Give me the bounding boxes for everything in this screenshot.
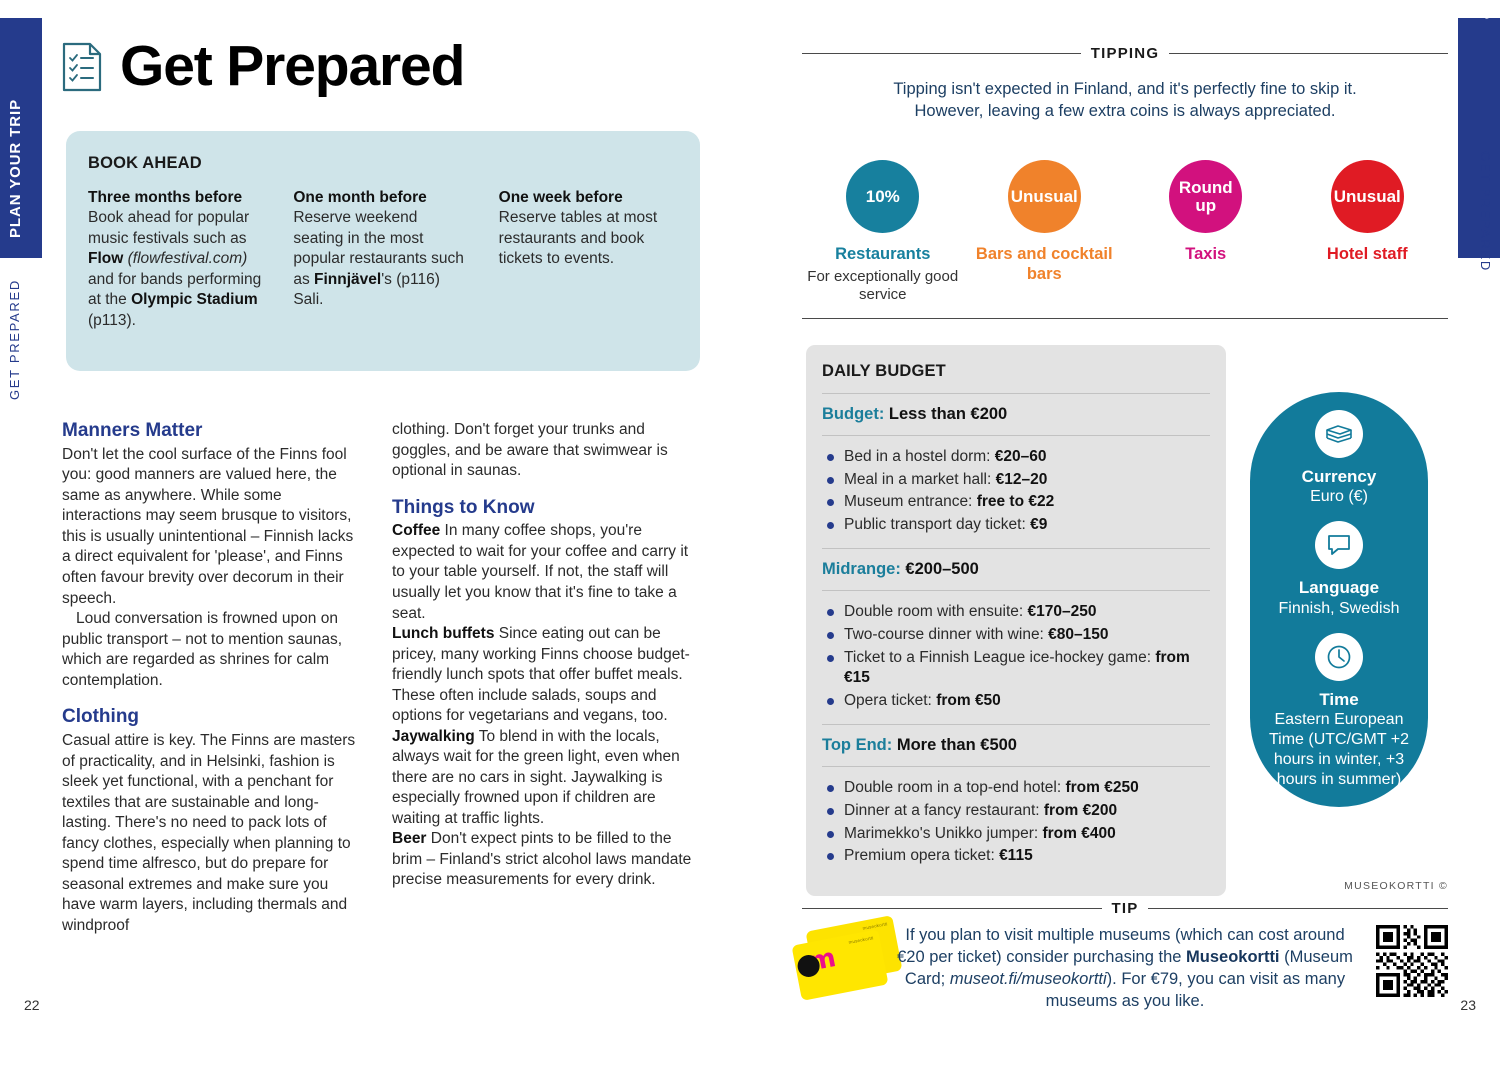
budget-item-text: Meal in a market hall: [844, 471, 996, 488]
checklist-document-icon [62, 42, 102, 92]
budget-tier-heading: Top End: More than €500 [822, 736, 1210, 766]
tipping-item: UnusualHotel staff [1287, 160, 1449, 304]
budget-item-text: Museum entrance: [844, 493, 977, 510]
budget-item-text: Dinner at a fancy restaurant: [844, 802, 1044, 819]
book-ahead-column-heading: Three months before [88, 188, 265, 208]
things-to-know-item: Jaywalking To blend in with the locals, … [392, 727, 692, 830]
divider [822, 724, 1210, 725]
fact-heading: Time [1250, 690, 1428, 710]
tipping-bubble: Unusual [1331, 160, 1404, 233]
budget-item-text: Bed in a hostel dorm: [844, 448, 995, 465]
tipping-sublabel: For exceptionally good service [802, 268, 964, 305]
budget-tier-label: Midrange: [822, 560, 901, 578]
tipping-label: Restaurants [802, 245, 964, 265]
fact-text: Eastern European Time (UTC/GMT +2 hours … [1250, 710, 1428, 790]
paragraph-continued: clothing. Don't forget your trunks and g… [392, 420, 692, 482]
budget-item-value: €170–250 [1028, 603, 1097, 620]
book-ahead-column: Three months before Book ahead for popul… [88, 188, 265, 331]
budget-item: Bed in a hostel dorm: €20–60 [822, 447, 1210, 468]
tip-heading: TIP [1112, 900, 1139, 917]
budget-item-value: €20–60 [995, 448, 1047, 465]
bold-run: Olympic Stadium [131, 291, 258, 308]
section-tab-label-left: PLAN YOUR TRIP [7, 99, 24, 238]
book-ahead-column-body: Reserve tables at most restaurants and b… [499, 208, 676, 269]
fact-heading: Currency [1250, 467, 1428, 487]
daily-budget-tiers: Budget: Less than €200Bed in a hostel do… [822, 393, 1210, 880]
tipping-item: UnusualBars and cocktail bars [964, 160, 1126, 304]
budget-item-value: from €400 [1042, 825, 1115, 842]
fact-language: Language Finnish, Swedish [1250, 521, 1428, 618]
tipping-bubble: Unusual [1008, 160, 1081, 233]
rule-line [1148, 908, 1448, 909]
bold-run: Flow [88, 250, 123, 267]
page-number-right: 23 [1460, 997, 1476, 1013]
italic-run: museot.fi/museokortti [950, 970, 1107, 988]
budget-item: Opera ticket: from €50 [822, 691, 1210, 712]
tipping-bubble: Round up [1169, 160, 1242, 233]
tip-text: If you plan to visit multiple museums (w… [890, 925, 1360, 1013]
budget-item-list: Double room in a top-end hotel: from €25… [822, 778, 1210, 866]
budget-item: Double room with ensuite: €170–250 [822, 602, 1210, 623]
budget-item-text: Marimekko's Unikko jumper: [844, 825, 1042, 842]
fact-text: Finnish, Swedish [1250, 599, 1428, 619]
budget-item-text: Opera ticket: [844, 692, 936, 709]
book-ahead-box: BOOK AHEAD Three months before Book ahea… [66, 131, 700, 371]
tipping-intro-line-1: Tipping isn't expected in Finland, and i… [802, 78, 1448, 100]
book-ahead-column-heading: One month before [293, 188, 470, 208]
book-ahead-column-body: Book ahead for popular music festivals s… [88, 208, 265, 331]
right-page: PLAN YOUR TRIP GET PREPARED TIPPING Tipp… [750, 0, 1500, 1082]
budget-item: Museum entrance: free to €22 [822, 492, 1210, 513]
left-page: PLAN YOUR TRIP GET PREPARED Get Prepared… [0, 0, 750, 1082]
text-run: Book ahead for popular music festivals s… [88, 209, 249, 246]
bold-run: Museokortti [1186, 948, 1280, 966]
fact-currency: Currency Euro (€) [1250, 410, 1428, 507]
page-title: Get Prepared [120, 38, 464, 95]
term-description: Don't expect pints to be filled to the b… [392, 830, 691, 888]
budget-tier-heading: Midrange: €200–500 [822, 560, 1210, 590]
speech-bubble-icon [1315, 521, 1363, 569]
budget-item-text: Double room with ensuite: [844, 603, 1028, 620]
body-columns: Manners Matter Don't let the cool surfac… [62, 420, 692, 936]
tipping-item: Round upTaxis [1125, 160, 1287, 304]
book-ahead-column-heading: One week before [499, 188, 676, 208]
italic-run: (flowfestival.com) [123, 250, 247, 267]
bold-run: Finnjävel [314, 271, 381, 288]
tipping-label: Taxis [1125, 245, 1287, 265]
text-run: Reserve tables at most restaurants and b… [499, 209, 658, 267]
budget-item-value: from €250 [1065, 779, 1138, 796]
card-fineprint: museokortti [848, 935, 874, 945]
things-to-know-item: Lunch buffets Since eating out can be pr… [392, 624, 692, 727]
budget-item: Premium opera ticket: €115 [822, 846, 1210, 867]
budget-item-value: €9 [1030, 516, 1047, 533]
tipping-intro-line-2: However, leaving a few extra coins is al… [802, 100, 1448, 122]
divider [822, 435, 1210, 436]
rule-line [802, 908, 1102, 909]
budget-item: Meal in a market hall: €12–20 [822, 470, 1210, 491]
budget-tier-range: €200–500 [901, 560, 979, 578]
budget-item-text: Double room in a top-end hotel: [844, 779, 1065, 796]
budget-item-value: €12–20 [996, 471, 1048, 488]
budget-item: Two-course dinner with wine: €80–150 [822, 625, 1210, 646]
fact-text: Euro (€) [1250, 487, 1428, 507]
budget-tier-range: More than €500 [892, 736, 1017, 754]
rule-line [1169, 53, 1448, 54]
divider [822, 766, 1210, 767]
tipping-label: Hotel staff [1287, 245, 1449, 265]
things-to-know-list: Coffee In many coffee shops, you're expe… [392, 521, 692, 891]
banknotes-icon [1315, 410, 1363, 458]
book-ahead-heading: BOOK AHEAD [88, 154, 676, 173]
tipping-item: 10%RestaurantsFor exceptionally good ser… [802, 160, 964, 304]
budget-item: Dinner at a fancy restaurant: from €200 [822, 801, 1210, 822]
text-run: (p113). [88, 312, 136, 329]
budget-item-text: Premium opera ticket: [844, 847, 999, 864]
section-heading-manners-matter: Manners Matter [62, 420, 362, 443]
budget-item: Double room in a top-end hotel: from €25… [822, 778, 1210, 799]
qr-code[interactable] [1376, 925, 1448, 997]
tipping-heading: TIPPING [1091, 45, 1159, 62]
divider [822, 590, 1210, 591]
budget-item-value: from €50 [936, 692, 1001, 709]
body-column-2: clothing. Don't forget your trunks and g… [392, 420, 692, 936]
budget-tier-range: Less than €200 [884, 405, 1007, 423]
budget-item-list: Double room with ensuite: €170–250Two-co… [822, 602, 1210, 711]
fact-time: Time Eastern European Time (UTC/GMT +2 h… [1250, 633, 1428, 790]
daily-budget-box: DAILY BUDGET Budget: Less than €200Bed i… [806, 345, 1226, 896]
facts-pill: Currency Euro (€) Language Finnish, Swed… [1250, 392, 1428, 807]
divider [822, 548, 1210, 549]
daily-budget-heading: DAILY BUDGET [822, 362, 1210, 393]
term: Beer [392, 830, 426, 847]
tipping-bottom-rule [802, 318, 1448, 319]
budget-tier-label: Top End: [822, 736, 892, 754]
term: Lunch buffets [392, 625, 494, 642]
body-column-1: Manners Matter Don't let the cool surfac… [62, 420, 362, 936]
section-heading-things-to-know: Things to Know [392, 497, 692, 520]
clock-icon [1315, 633, 1363, 681]
book-ahead-columns: Three months before Book ahead for popul… [88, 188, 676, 331]
image-credit: MUSEOKORTTI © [1344, 880, 1448, 892]
budget-item: Ticket to a Finnish League ice-hockey ga… [822, 648, 1210, 689]
page-header: Get Prepared [62, 38, 464, 95]
budget-tier-heading: Budget: Less than €200 [822, 405, 1210, 435]
subsection-tab-label-right: GET PREPARED [1478, 151, 1493, 272]
budget-item-value: €115 [999, 847, 1033, 864]
divider [822, 393, 1210, 394]
rule-line [802, 53, 1081, 54]
paragraph: Loud conversation is frowned upon on pub… [62, 609, 362, 691]
budget-item-value: free to €22 [977, 493, 1055, 510]
budget-item-text: Two-course dinner with wine: [844, 626, 1048, 643]
budget-item: Public transport day ticket: €9 [822, 515, 1210, 536]
tipping-intro: Tipping isn't expected in Finland, and i… [802, 78, 1448, 123]
things-to-know-item: Beer Don't expect pints to be filled to … [392, 829, 692, 891]
subsection-tab-label-left: GET PREPARED [7, 279, 22, 400]
book-ahead-column-body: Reserve weekend seating in the most popu… [293, 208, 470, 310]
budget-item-text: Ticket to a Finnish League ice-hockey ga… [844, 649, 1155, 666]
section-heading-clothing: Clothing [62, 706, 362, 729]
fact-heading: Language [1250, 578, 1428, 598]
budget-item-value: €80–150 [1048, 626, 1108, 643]
budget-tier-label: Budget: [822, 405, 884, 423]
tipping-heading-rule: TIPPING [802, 45, 1448, 62]
book-ahead-column: One month before Reserve weekend seating… [293, 188, 470, 331]
budget-item: Marimekko's Unikko jumper: from €400 [822, 824, 1210, 845]
tipping-items: 10%RestaurantsFor exceptionally good ser… [802, 160, 1448, 304]
budget-item-text: Public transport day ticket: [844, 516, 1030, 533]
tipping-label: Bars and cocktail bars [964, 245, 1126, 285]
term: Jaywalking [392, 728, 475, 745]
paragraph: Don't let the cool surface of the Finns … [62, 445, 362, 609]
tipping-bubble: 10% [846, 160, 919, 233]
book-ahead-column: One week before Reserve tables at most r… [499, 188, 676, 331]
term: Coffee [392, 522, 440, 539]
budget-item-value: from €200 [1044, 802, 1117, 819]
paragraph: Casual attire is key. The Finns are mast… [62, 731, 362, 936]
section-tab-label-right: PLAN YOUR TRIP [1476, 0, 1493, 20]
things-to-know-item: Coffee In many coffee shops, you're expe… [392, 521, 692, 624]
budget-item-list: Bed in a hostel dorm: €20–60Meal in a ma… [822, 447, 1210, 535]
page-number-left: 22 [24, 997, 40, 1013]
